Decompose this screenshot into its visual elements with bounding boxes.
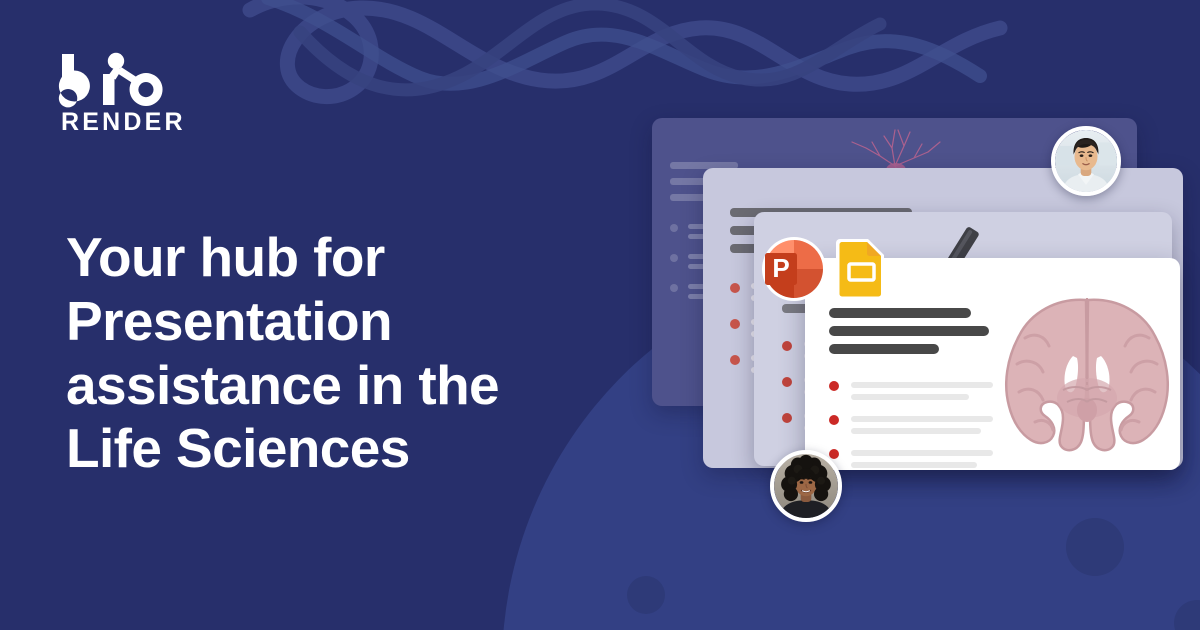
coronal-brain-section-illustration bbox=[1006, 298, 1168, 450]
avatar-photo bbox=[1055, 130, 1117, 192]
avatar-photo bbox=[774, 454, 838, 518]
powerpoint-letter: P bbox=[772, 253, 789, 283]
google-slides-icon[interactable] bbox=[834, 238, 889, 300]
presentation-slide-stack: P bbox=[0, 0, 1200, 630]
avatar-collaborator-bottom[interactable] bbox=[770, 450, 842, 522]
avatar-collaborator-top[interactable] bbox=[1051, 126, 1121, 196]
powerpoint-icon[interactable]: P bbox=[760, 235, 828, 303]
hero-banner: RENDER Your hub for Presentation assista… bbox=[0, 0, 1200, 630]
